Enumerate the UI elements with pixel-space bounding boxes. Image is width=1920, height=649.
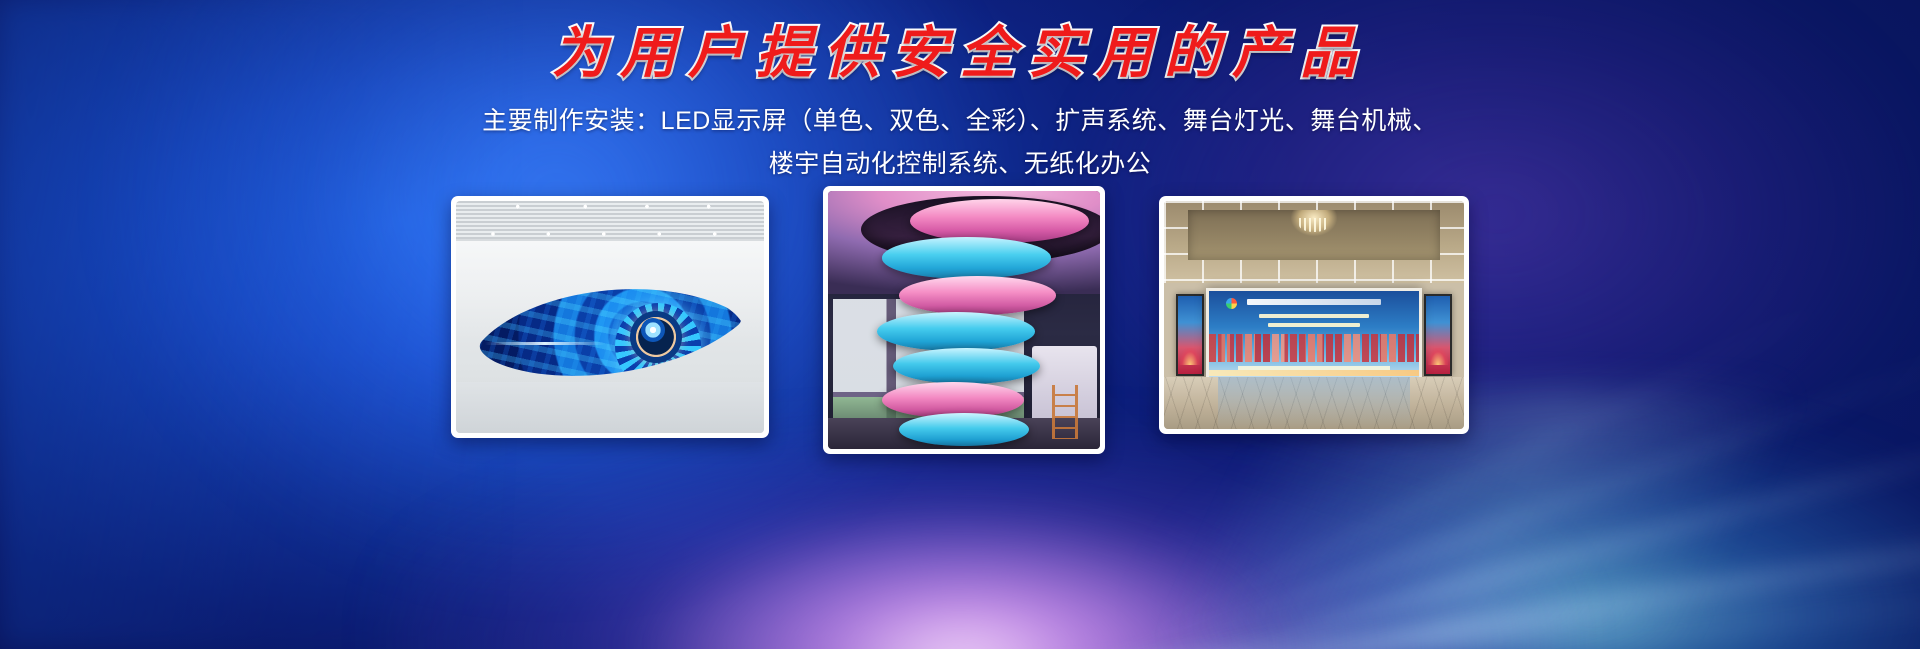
hall-screen-footer-text <box>1238 366 1389 370</box>
spiral-band-3 <box>899 276 1057 315</box>
spiral-band-5 <box>893 348 1040 384</box>
photo-gallery <box>0 196 1920 454</box>
hall-main-led-screen <box>1206 288 1422 385</box>
banner-headline: 为用户提供安全实用的产品 <box>552 24 1368 86</box>
eye-screen-glow-line <box>485 342 604 345</box>
spiral-band-7 <box>899 413 1030 447</box>
hall-screen-subtitle-1 <box>1259 314 1368 318</box>
photo-eye-led-display-image <box>456 201 764 433</box>
hall-led-panel-right <box>1424 294 1452 376</box>
subtitle-line-2: 楼宇自动化控制系统、无纸化办公 <box>0 143 1920 186</box>
photo-conference-hall-led-image <box>1164 201 1464 429</box>
eye-floor <box>456 382 764 433</box>
hall-floor-reflection <box>1218 377 1410 429</box>
photo-eye-led-display[interactable] <box>451 196 769 438</box>
photo-spiral-led-display-image <box>828 191 1100 449</box>
hall-screen-ribbon <box>1209 370 1419 376</box>
photo-conference-hall-led[interactable] <box>1159 196 1469 434</box>
subtitle-line-1: 主要制作安装：LED显示屏（单色、双色、全彩）、扩声系统、舞台灯光、舞台机械、 <box>0 100 1920 143</box>
spiral-step-ladder <box>1052 385 1078 439</box>
spiral-band-1 <box>910 199 1090 243</box>
promo-banner: 为用户提供安全实用的产品 主要制作安装：LED显示屏（单色、双色、全彩）、扩声系… <box>0 0 1920 649</box>
headline-container: 为用户提供安全实用的产品 <box>0 24 1920 86</box>
spiral-band-2 <box>882 237 1051 278</box>
hall-screen-title-text <box>1247 299 1381 305</box>
subtitle-container: 主要制作安装：LED显示屏（单色、双色、全彩）、扩声系统、舞台灯光、舞台机械、 … <box>0 100 1920 186</box>
photo-spiral-led-display[interactable] <box>823 186 1105 454</box>
hall-screen-logo-icon <box>1226 298 1237 309</box>
hall-screen-skyline <box>1209 334 1419 361</box>
hall-chandelier <box>1291 210 1337 236</box>
eye-ceiling-lights <box>456 204 764 209</box>
hall-led-panel-left <box>1176 294 1204 376</box>
hall-screen-subtitle-2 <box>1268 323 1360 327</box>
spiral-band-4 <box>877 312 1035 351</box>
